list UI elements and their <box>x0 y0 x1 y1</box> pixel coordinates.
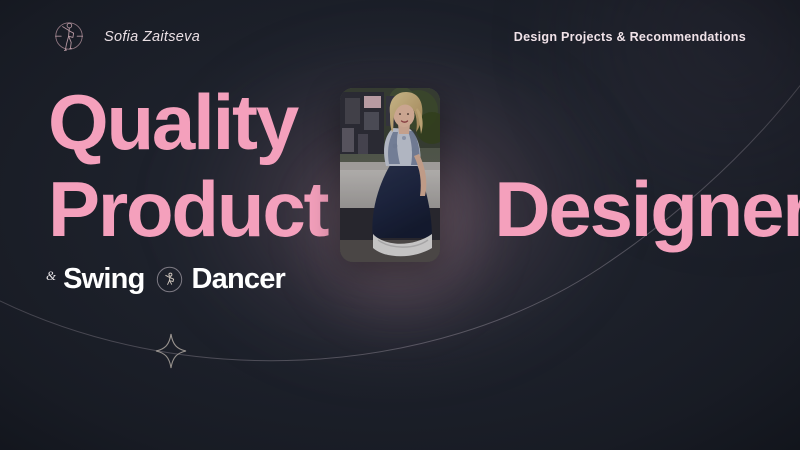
headline-word-product: Product <box>48 173 327 246</box>
dancer-badge-icon <box>156 266 183 293</box>
portrait-photo-image <box>340 88 440 262</box>
ampersand: & <box>46 269 56 282</box>
four-point-sparkle-icon <box>156 334 186 368</box>
subheadline: & Swing Dancer <box>46 264 285 294</box>
slide-header: Sofia Zaitseva Design Projects & Recomme… <box>0 0 800 74</box>
subheadline-word-swing: Swing <box>63 264 144 294</box>
brand-name: Sofia Zaitseva <box>104 29 200 45</box>
headline-word-designer: Designer <box>494 173 800 246</box>
brand[interactable]: Sofia Zaitseva <box>48 16 200 58</box>
portrait-photo[interactable] <box>340 88 440 262</box>
dancer-in-circle-logo-icon <box>48 16 90 58</box>
title-slide: Sofia Zaitseva Design Projects & Recomme… <box>0 0 800 450</box>
subheadline-word-dancer: Dancer <box>192 264 286 294</box>
header-tagline: Design Projects & Recommendations <box>514 30 746 44</box>
